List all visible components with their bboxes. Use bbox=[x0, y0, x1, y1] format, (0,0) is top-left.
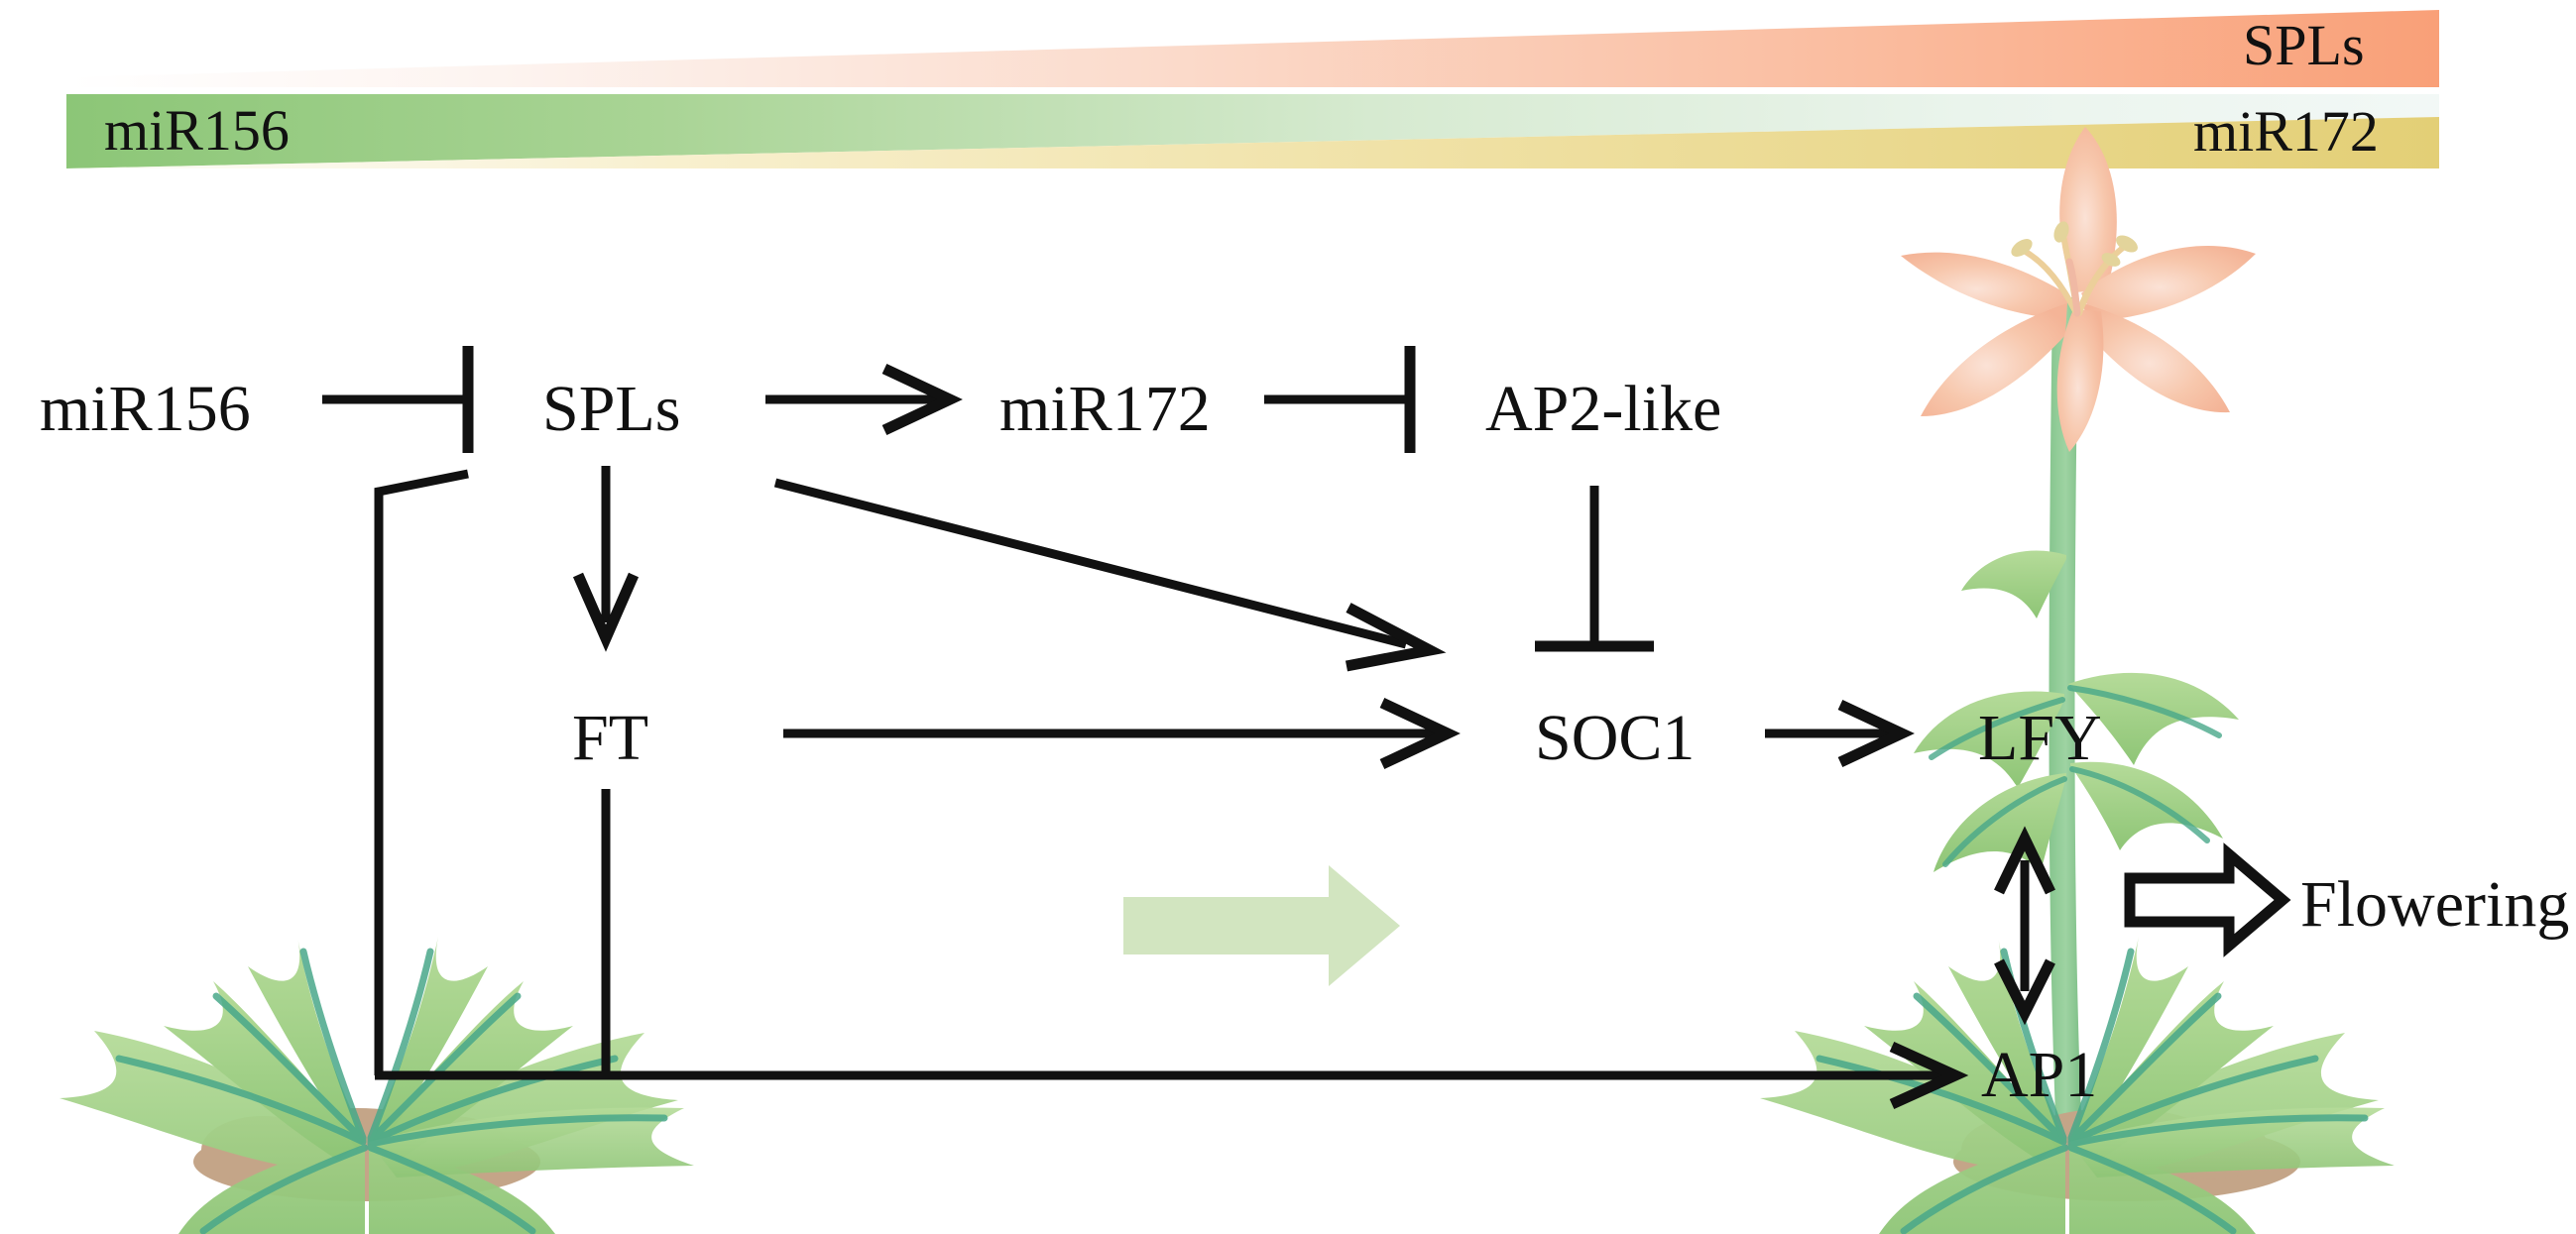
flowering-block-arrow-icon bbox=[2130, 854, 2283, 946]
edge-soc1-activates-lfy bbox=[1765, 705, 1902, 762]
pathway-edges-layer bbox=[0, 0, 2576, 1234]
edge-spls-activates-soc1 bbox=[775, 483, 1430, 666]
node-lfy[interactable]: LFY bbox=[1978, 706, 2102, 771]
edge-mir172-inhibits-ap2like bbox=[1264, 346, 1410, 453]
node-spls[interactable]: SPLs bbox=[542, 377, 680, 442]
edge-spls-activates-mir172 bbox=[765, 369, 950, 430]
edge-bottom-to-ap1 bbox=[375, 1047, 1955, 1104]
node-mir156[interactable]: miR156 bbox=[40, 377, 251, 442]
node-mir172[interactable]: miR172 bbox=[999, 377, 1211, 442]
edge-mir156-inhibits-spls bbox=[322, 346, 468, 453]
edge-spls-activates-ft bbox=[578, 466, 634, 638]
figure-canvas: SPLs miR156 miR172 bbox=[0, 0, 2576, 1234]
edge-ap2like-inhibits-soc1 bbox=[1535, 486, 1654, 646]
node-ap2-like[interactable]: AP2-like bbox=[1485, 377, 1721, 442]
edge-spls-elbow-to-bottom bbox=[379, 474, 468, 1075]
node-flowering[interactable]: Flowering bbox=[2300, 872, 2569, 938]
node-soc1[interactable]: SOC1 bbox=[1535, 706, 1695, 771]
node-ft[interactable]: FT bbox=[572, 706, 648, 771]
node-ap1[interactable]: AP1 bbox=[1981, 1043, 2097, 1108]
edge-lfy-ap1-mutual bbox=[1999, 839, 2050, 1013]
edge-ft-activates-soc1 bbox=[783, 703, 1448, 764]
